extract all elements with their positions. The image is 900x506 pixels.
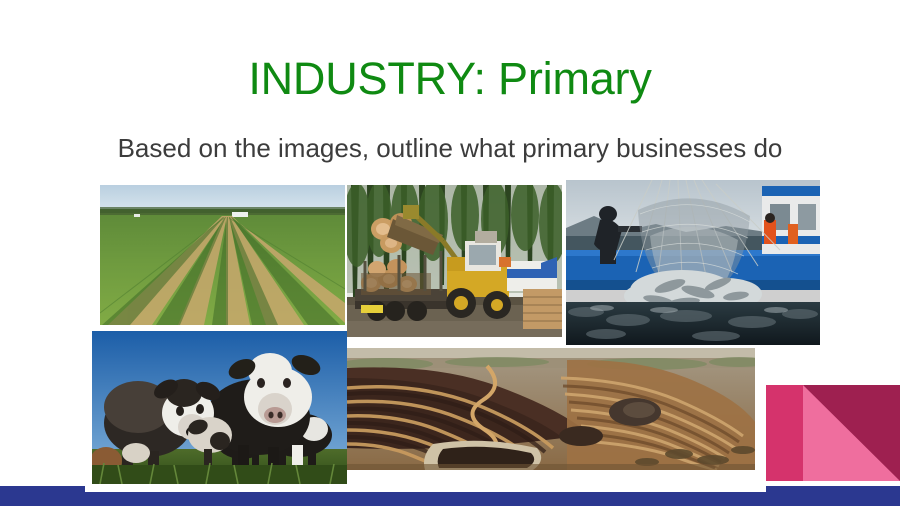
slide-canvas: INDUSTRY: Primary Based on the images, o… [0,0,900,506]
page-title: INDUSTRY: Primary [0,52,900,106]
dairy-cattle-photo [92,331,347,484]
slide-subtitle: Based on the images, outline what primar… [0,131,900,165]
logging-truck-photo [347,185,562,337]
crop-field-photo [100,185,345,325]
open-pit-mine-photo [347,348,755,470]
pink-accent-triangle [803,385,900,481]
pink-accent-strip [766,385,803,481]
pink-accent-block [766,385,900,481]
fishing-trawler-photo [566,180,820,345]
